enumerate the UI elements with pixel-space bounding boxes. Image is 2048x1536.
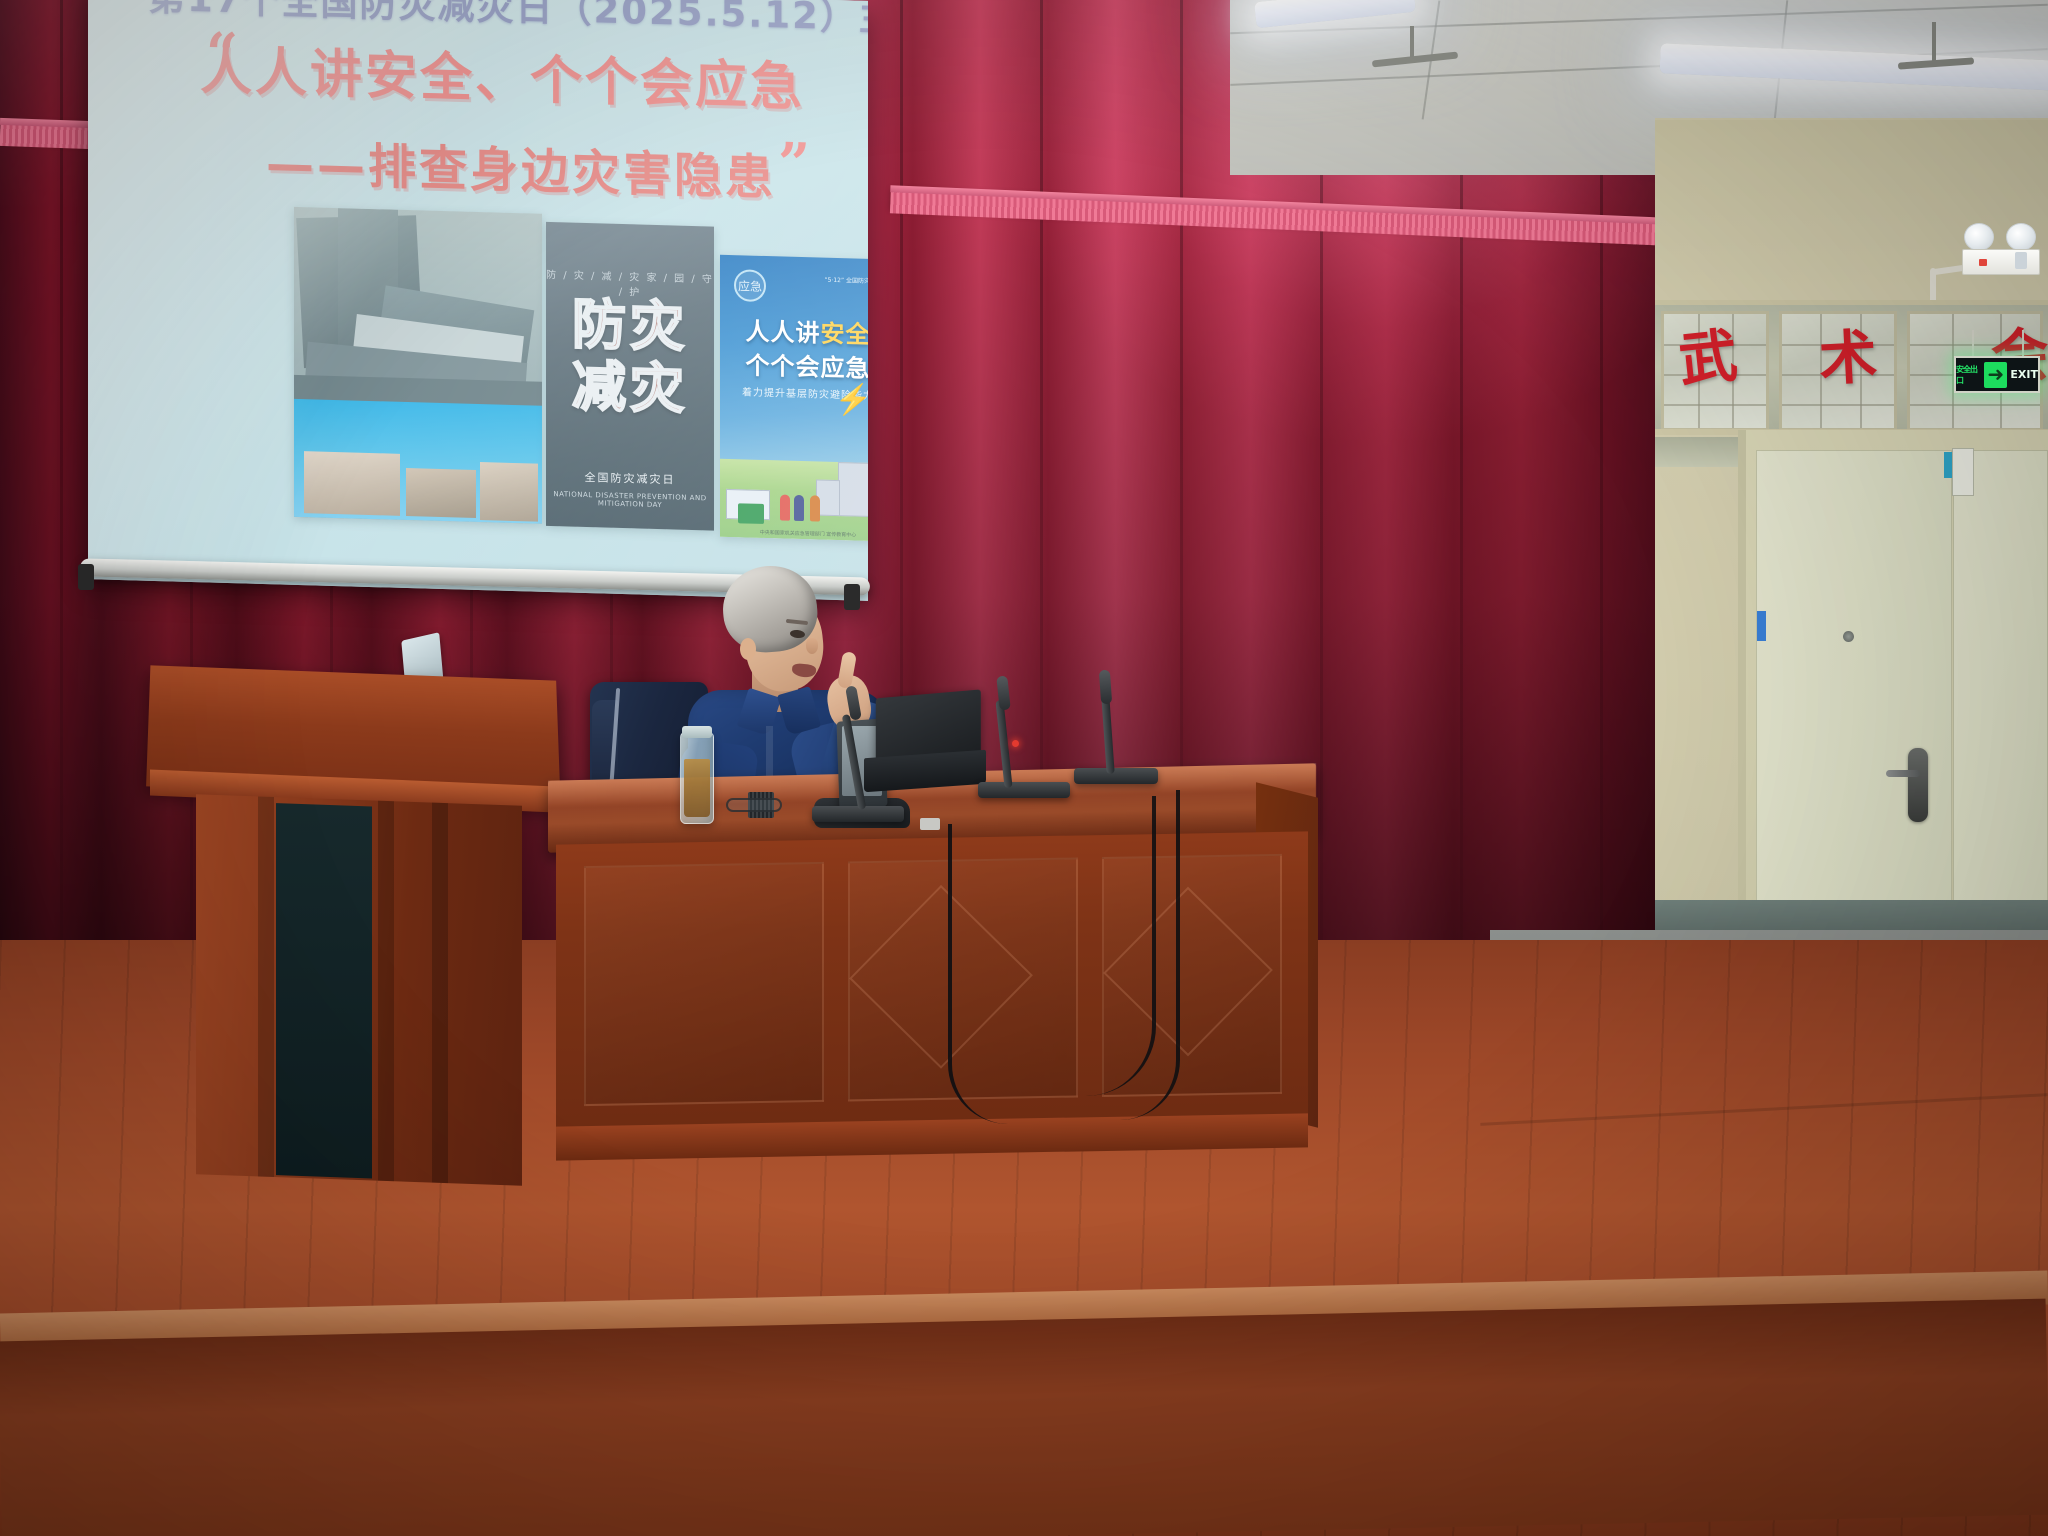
microphone-base-far-right[interactable] xyxy=(1074,768,1158,784)
poster-fangzai-line1: 防灾 xyxy=(546,296,714,356)
podium-body xyxy=(196,794,522,1185)
exit-sign-en-label: EXIT xyxy=(2010,368,2038,381)
slide-poster-earthquake-lower xyxy=(294,399,542,524)
power-cable-3 xyxy=(1120,790,1180,1120)
tea-bottle-cap[interactable] xyxy=(682,726,712,738)
slide-poster-fangzai: 防 / 灾 / 减 / 灾 家 / 园 / 守 / 护 防灾 减灾 全国防灾减灾… xyxy=(546,222,714,531)
door-handle-lever[interactable] xyxy=(1886,770,1920,777)
door-peephole xyxy=(1843,631,1854,642)
poster-fangzai-caption: 全国防灾减灾日 xyxy=(546,468,714,489)
paper-character-1: 武 xyxy=(1676,326,1740,390)
speaker-nose xyxy=(806,638,818,654)
door-lock-plate[interactable] xyxy=(1908,748,1928,822)
exit-sign-cn-label: 安全出口 xyxy=(1956,364,1981,386)
microphone-head-far-right xyxy=(1099,670,1112,705)
exit-runner-icon: ➜ xyxy=(1984,362,2007,388)
stage-front-face xyxy=(0,1299,2048,1536)
poster-renren-signboard xyxy=(738,503,764,524)
slide-close-quote: ” xyxy=(778,130,810,197)
poster-renren-footer: 中央和国家机关应急管理部门 宣传教育中心 xyxy=(720,528,868,540)
paper-character-2: 术 xyxy=(1818,328,1879,389)
emergency-light xyxy=(1962,215,2040,275)
poster-renren-badge: 应急 xyxy=(734,269,766,302)
ceiling-fan-2 xyxy=(1932,22,1936,62)
poster-fangzai-caption-en: NATIONAL DISASTER PREVENTION AND MITIGAT… xyxy=(546,490,714,511)
screen-endcap-left xyxy=(78,564,94,590)
microphone-led-right xyxy=(1012,740,1019,747)
lecture-hall-scene: 武 术 会 安全出口 ➜ EXIT 第17个全国防灾减灾日（2 xyxy=(0,0,2048,1536)
podium-front-inset xyxy=(276,803,372,1178)
poster-renren-title-2: 个个会应急 xyxy=(720,345,868,385)
speaker-ear xyxy=(740,638,756,660)
projection-screen: 第17个全国防灾减灾日（2025.5.12）主题 “ 人人讲安全、个个会应急 —… xyxy=(88,0,868,601)
slide-poster-renren: 应急 “5·12” 全国防灾减灾日 人人讲安全 个个会应急 着力提升基层防灾避险… xyxy=(720,255,868,542)
slide-main-line-1: 人人讲安全、个个会应急 xyxy=(200,28,805,120)
projected-slide: 第17个全国防灾减灾日（2025.5.12）主题 “ 人人讲安全、个个会应急 —… xyxy=(88,0,868,601)
slide-main-line-2: ——排查身边灾害隐患 xyxy=(266,124,776,208)
tea-bottle[interactable] xyxy=(680,732,714,824)
poster-renren-ground: 中央和国家机关应急管理部门 宣传教育中心 xyxy=(720,459,868,542)
door-hinge-top xyxy=(1952,448,1974,496)
poster-fangzai-line2: 减灾 xyxy=(546,358,714,418)
door-blue-tag xyxy=(1757,611,1766,641)
slide-poster-earthquake xyxy=(294,207,542,524)
cable-plug[interactable] xyxy=(920,818,940,830)
poster-renren-corner-text: “5·12” 全国防灾减灾日 xyxy=(825,276,868,287)
lightning-bolt-icon: ⚡ xyxy=(835,382,868,418)
conference-table-front xyxy=(556,831,1308,1144)
exit-sign: 安全出口 ➜ EXIT xyxy=(1954,356,2040,393)
screen-endcap-right xyxy=(844,584,860,610)
ceiling-fan-1 xyxy=(1410,26,1414,58)
eyeglasses[interactable] xyxy=(726,798,782,812)
